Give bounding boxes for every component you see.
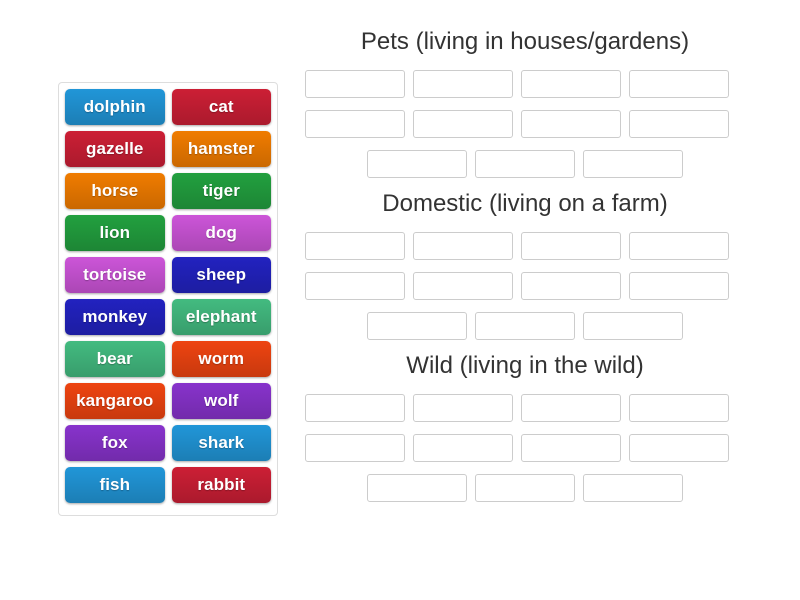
word-tile[interactable]: wolf [172,383,272,419]
dropzone-slot[interactable] [521,434,621,462]
dropzone-rows [305,70,745,178]
word-tile[interactable]: monkey [65,299,165,335]
dropzone-rows [305,394,745,502]
word-tile[interactable]: tortoise [65,257,165,293]
word-tile[interactable]: cat [172,89,272,125]
dropzone-slot[interactable] [367,150,467,178]
dropzone-slot[interactable] [305,272,405,300]
dropzone-slot[interactable] [475,150,575,178]
word-tiles-panel: dolphincatgazellehamsterhorsetigerliondo… [58,82,278,516]
dropzone-slot[interactable] [629,434,729,462]
word-tile[interactable]: dolphin [65,89,165,125]
dropzone-row [305,110,745,138]
dropzone-slot[interactable] [521,70,621,98]
dropzone-slot[interactable] [629,394,729,422]
word-tile[interactable]: bear [65,341,165,377]
dropzone-row [305,150,745,178]
dropzone-slot[interactable] [629,70,729,98]
word-tile[interactable]: kangaroo [65,383,165,419]
word-tile[interactable]: tiger [172,173,272,209]
word-tile[interactable]: sheep [172,257,272,293]
category-section: Wild (living in the wild) [305,352,745,502]
dropzone-rows [305,232,745,340]
dropzone-slot[interactable] [583,150,683,178]
dropzone-row [305,232,745,260]
dropzone-slot[interactable] [521,394,621,422]
word-tile[interactable]: shark [172,425,272,461]
word-tile[interactable]: horse [65,173,165,209]
category-title: Pets (living in houses/gardens) [305,28,745,56]
category-title: Wild (living in the wild) [305,352,745,380]
word-tile[interactable]: gazelle [65,131,165,167]
dropzone-slot[interactable] [305,70,405,98]
word-tile[interactable]: elephant [172,299,272,335]
dropzone-row [305,70,745,98]
dropzone-slot[interactable] [521,110,621,138]
category-section: Pets (living in houses/gardens) [305,28,745,178]
word-tile[interactable]: hamster [172,131,272,167]
word-tile[interactable]: fox [65,425,165,461]
word-tile[interactable]: fish [65,467,165,503]
dropzone-row [305,312,745,340]
dropzone-slot[interactable] [583,312,683,340]
dropzone-slot[interactable] [521,272,621,300]
dropzone-slot[interactable] [583,474,683,502]
activity-root: dolphincatgazellehamsterhorsetigerliondo… [0,0,800,600]
dropzone-slot[interactable] [305,110,405,138]
dropzone-slot[interactable] [629,272,729,300]
word-tile[interactable]: worm [172,341,272,377]
dropzone-slot[interactable] [413,232,513,260]
category-list: Pets (living in houses/gardens)Domestic … [305,28,745,514]
dropzone-slot[interactable] [367,474,467,502]
dropzone-slot[interactable] [521,232,621,260]
dropzone-slot[interactable] [475,474,575,502]
dropzone-row [305,394,745,422]
category-title: Domestic (living on a farm) [305,190,745,218]
word-tile[interactable]: lion [65,215,165,251]
dropzone-slot[interactable] [413,110,513,138]
word-tile[interactable]: dog [172,215,272,251]
dropzone-row [305,434,745,462]
dropzone-slot[interactable] [305,394,405,422]
dropzone-slot[interactable] [413,434,513,462]
dropzone-row [305,272,745,300]
word-tiles-grid: dolphincatgazellehamsterhorsetigerliondo… [65,89,271,503]
dropzone-row [305,474,745,502]
dropzone-slot[interactable] [413,70,513,98]
dropzone-slot[interactable] [413,394,513,422]
dropzone-slot[interactable] [367,312,467,340]
dropzone-slot[interactable] [413,272,513,300]
dropzone-slot[interactable] [629,232,729,260]
dropzone-slot[interactable] [629,110,729,138]
word-tile[interactable]: rabbit [172,467,272,503]
dropzone-slot[interactable] [475,312,575,340]
dropzone-slot[interactable] [305,434,405,462]
dropzone-slot[interactable] [305,232,405,260]
category-section: Domestic (living on a farm) [305,190,745,340]
